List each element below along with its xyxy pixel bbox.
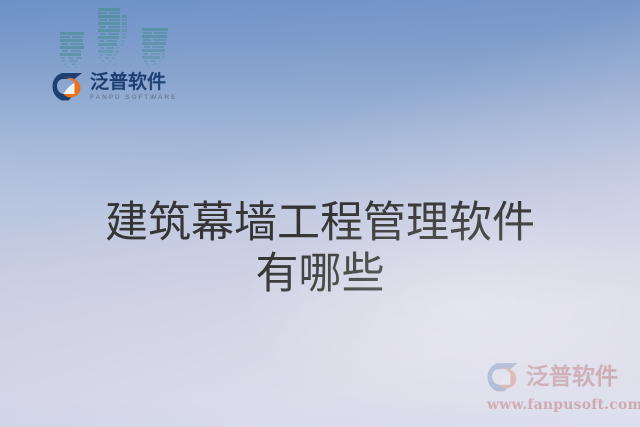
fanpu-logo-mark-icon [52, 72, 85, 102]
brand-name-cn: 泛普软件 [90, 73, 177, 93]
fanpu-logo-mark-watermark-icon [487, 362, 521, 393]
page-title: 建筑幕墙工程管理软件 有哪些 [0, 198, 640, 300]
pixelated-building-skyline [60, 2, 172, 70]
slide-canvas: 泛普软件 FANPU SOFTWARE 建筑幕墙工程管理软件 有哪些 泛普软件 … [0, 0, 640, 427]
brand-logo: 泛普软件 FANPU SOFTWARE [52, 72, 177, 102]
building-center [98, 8, 128, 70]
building-right [142, 28, 168, 70]
building-left [60, 32, 84, 70]
watermark-brand-row: 泛普软件 [487, 362, 635, 393]
watermark-brand-name: 泛普软件 [526, 366, 618, 389]
watermark-url: www.fanpusoft.com [487, 397, 635, 413]
brand-logo-text: 泛普软件 FANPU SOFTWARE [90, 73, 177, 102]
watermark: 泛普软件 www.fanpusoft.com [487, 362, 635, 413]
building-left-pixels [60, 32, 84, 70]
brand-name-en: FANPU SOFTWARE [90, 94, 177, 101]
building-center-pixels [98, 8, 128, 70]
building-right-pixels [142, 28, 168, 70]
